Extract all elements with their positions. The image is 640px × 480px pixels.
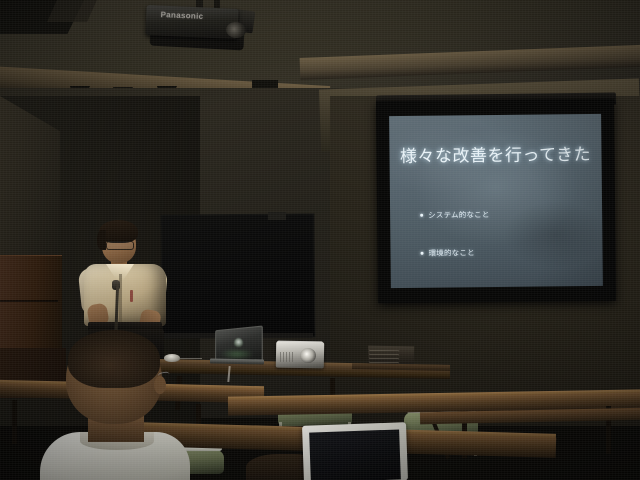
audience-laptop[interactable]: [303, 424, 411, 480]
slide-title: 様々な改善を行ってきた: [389, 140, 601, 167]
bullet-dot-icon: [421, 252, 424, 255]
laptop-screen: [309, 429, 401, 480]
presenter-hair-side: [97, 230, 106, 250]
blackboard: [160, 213, 315, 338]
audience-hair: [68, 330, 160, 388]
glasses-icon: [157, 371, 170, 382]
track-light-icon: [252, 80, 278, 88]
glasses-icon: [106, 241, 134, 250]
book-stack-pages: [369, 350, 399, 365]
slide-bullet-list: システム的なこと 環境的なこと: [420, 208, 591, 286]
projection-screen-surface: 様々な改善を行ってきた システム的なこと 環境的なこと: [389, 114, 603, 288]
blackboard-clip: [268, 212, 286, 220]
apple-laptop[interactable]: [208, 328, 266, 368]
projector-vent-grille: [280, 352, 293, 362]
lecture-room-photo: Panasonic 様々な改善を行ってきた システム的なこと 環境的なこと: [0, 0, 640, 480]
table-leg: [12, 400, 17, 444]
list-item: 環境的なこと: [420, 246, 590, 259]
presenter-pocket-pen: [130, 290, 133, 302]
list-item: システム的なこと: [420, 208, 590, 221]
cabinet-shelf-line: [0, 300, 58, 302]
slide-bullet-label: 環境的なこと: [428, 247, 474, 258]
bullet-dot-icon: [420, 214, 423, 217]
apple-logo-icon: [234, 338, 243, 348]
audience-member-front: [40, 332, 186, 480]
projection-screen-frame: 様々な改善を行ってきた システム的なこと 環境的なこと: [376, 99, 616, 303]
laptop-keyboard-base[interactable]: [210, 359, 264, 365]
slide-bullet-label: システム的なこと: [428, 209, 489, 221]
